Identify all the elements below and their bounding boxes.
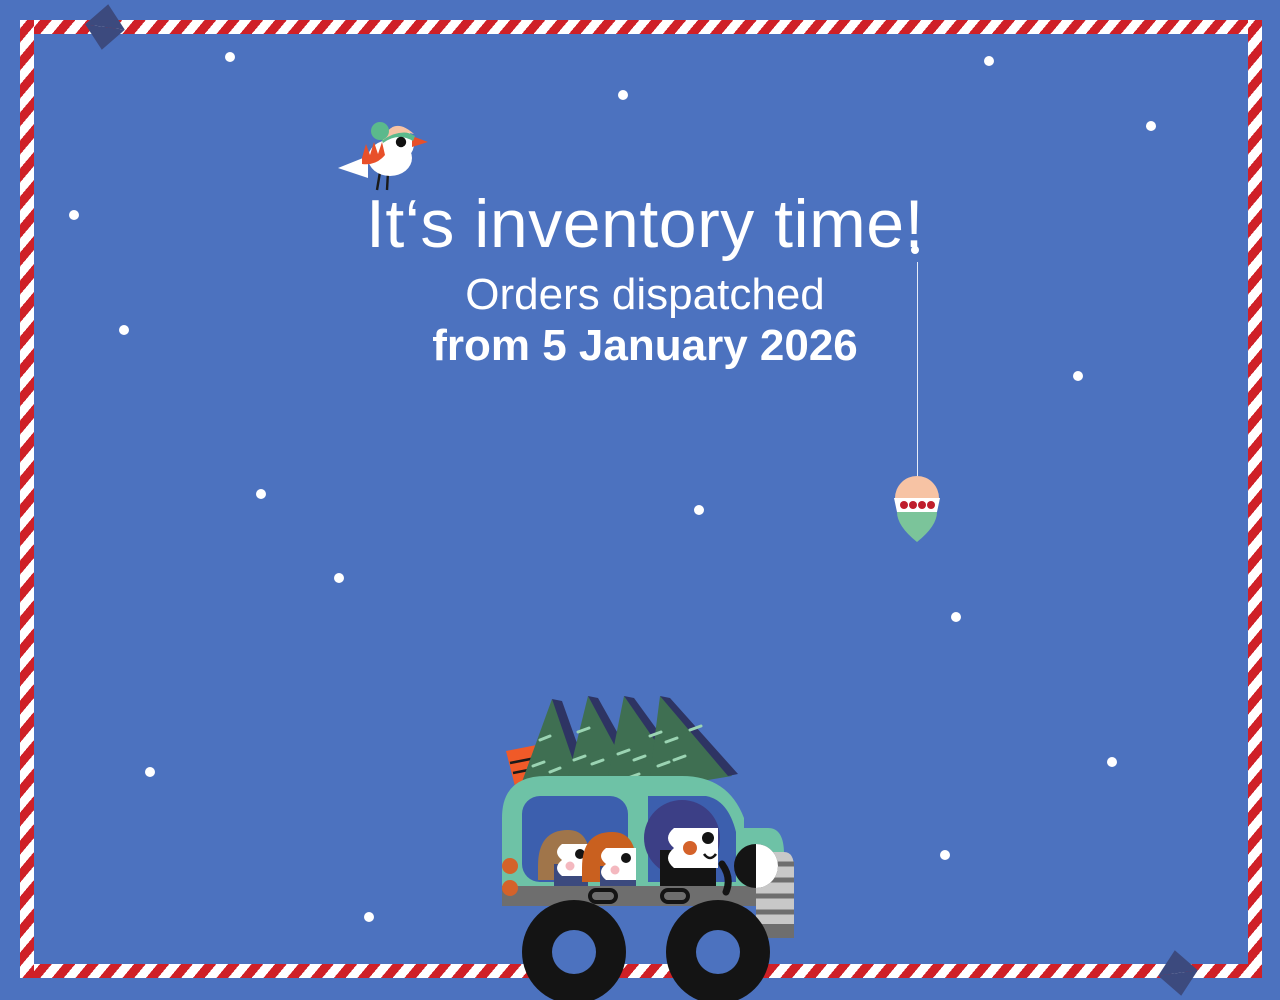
snow-dot <box>618 90 628 100</box>
ornament-icon <box>885 472 949 544</box>
snow-dot <box>951 612 961 622</box>
ribbon-bow-top-left <box>82 1 128 52</box>
wheel-rear <box>522 900 626 1000</box>
snow-dot <box>1146 121 1156 131</box>
subtitle-line-1: Orders dispatched <box>0 272 1280 318</box>
bow-wing-lower <box>1158 970 1201 998</box>
snow-dot <box>694 505 704 515</box>
holiday-notice-banner: It‘s inventory time! Orders dispatched f… <box>0 0 1280 1000</box>
ribbon-border-left <box>20 20 34 978</box>
bow-wing-lower <box>82 24 125 52</box>
ribbon-bow-bottom-right <box>1155 947 1201 998</box>
snow-dot <box>256 489 266 499</box>
snow-dot <box>1107 757 1117 767</box>
snow-dot <box>334 573 344 583</box>
headline-block: It‘s inventory time! Orders dispatched f… <box>0 190 1280 373</box>
snow-dot <box>145 767 155 777</box>
subtitle-line-2: from 5 January 2026 <box>0 318 1280 373</box>
snow-dot <box>984 56 994 66</box>
page-title: It‘s inventory time! <box>0 190 1280 258</box>
wheel-front <box>666 900 770 1000</box>
ribbon-border-top <box>20 20 1262 34</box>
snow-dot <box>364 912 374 922</box>
bird-icon <box>336 114 432 194</box>
snow-dot <box>225 52 235 62</box>
ribbon-border-right <box>1248 20 1262 978</box>
snow-dot <box>940 850 950 860</box>
car-illustration <box>478 668 808 1000</box>
